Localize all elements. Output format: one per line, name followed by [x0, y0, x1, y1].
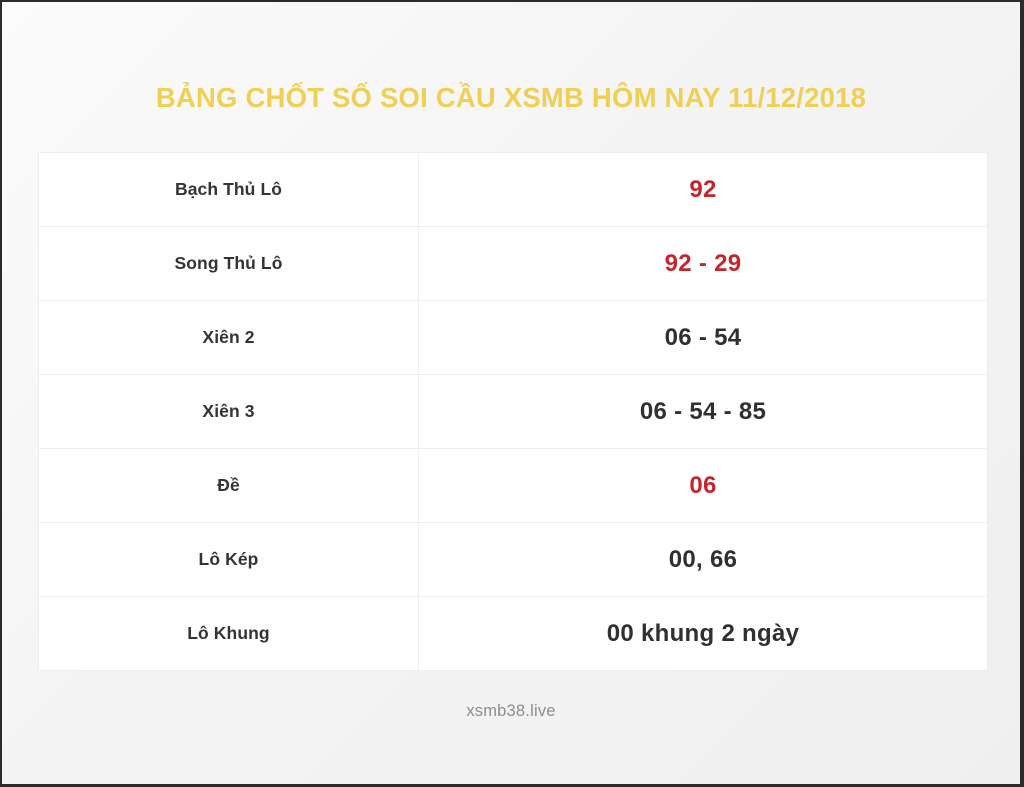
table-row: Xiên 3 06 - 54 - 85	[39, 375, 988, 449]
row-label: Xiên 3	[39, 375, 419, 449]
row-label: Song Thủ Lô	[39, 227, 419, 301]
row-label: Xiên 2	[39, 301, 419, 375]
row-value: 06 - 54 - 85	[419, 375, 988, 449]
prediction-table-body: Bạch Thủ Lô 92 Song Thủ Lô 92 - 29 Xiên …	[39, 153, 988, 671]
table-row: Đề 06	[39, 449, 988, 523]
page-title: BẢNG CHỐT SỐ SOI CẦU XSMB HÔM NAY 11/12/…	[2, 82, 1020, 114]
row-label: Đề	[39, 449, 419, 523]
prediction-table-container: Bạch Thủ Lô 92 Song Thủ Lô 92 - 29 Xiên …	[38, 152, 987, 671]
row-label: Lô Kép	[39, 523, 419, 597]
row-value: 00 khung 2 ngày	[419, 597, 988, 671]
row-label: Lô Khung	[39, 597, 419, 671]
table-row: Lô Kép 00, 66	[39, 523, 988, 597]
prediction-table: Bạch Thủ Lô 92 Song Thủ Lô 92 - 29 Xiên …	[38, 152, 988, 671]
page-canvas: BẢNG CHỐT SỐ SOI CẦU XSMB HÔM NAY 11/12/…	[2, 2, 1020, 784]
row-value: 06	[419, 449, 988, 523]
site-watermark: xsmb38.live	[2, 702, 1020, 721]
row-label: Bạch Thủ Lô	[39, 153, 419, 227]
row-value: 92 - 29	[419, 227, 988, 301]
row-value: 00, 66	[419, 523, 988, 597]
table-row: Xiên 2 06 - 54	[39, 301, 988, 375]
row-value: 06 - 54	[419, 301, 988, 375]
table-row: Bạch Thủ Lô 92	[39, 153, 988, 227]
table-row: Lô Khung 00 khung 2 ngày	[39, 597, 988, 671]
page-background: BẢNG CHỐT SỐ SOI CẦU XSMB HÔM NAY 11/12/…	[2, 2, 1020, 784]
row-value: 92	[419, 153, 988, 227]
table-row: Song Thủ Lô 92 - 29	[39, 227, 988, 301]
